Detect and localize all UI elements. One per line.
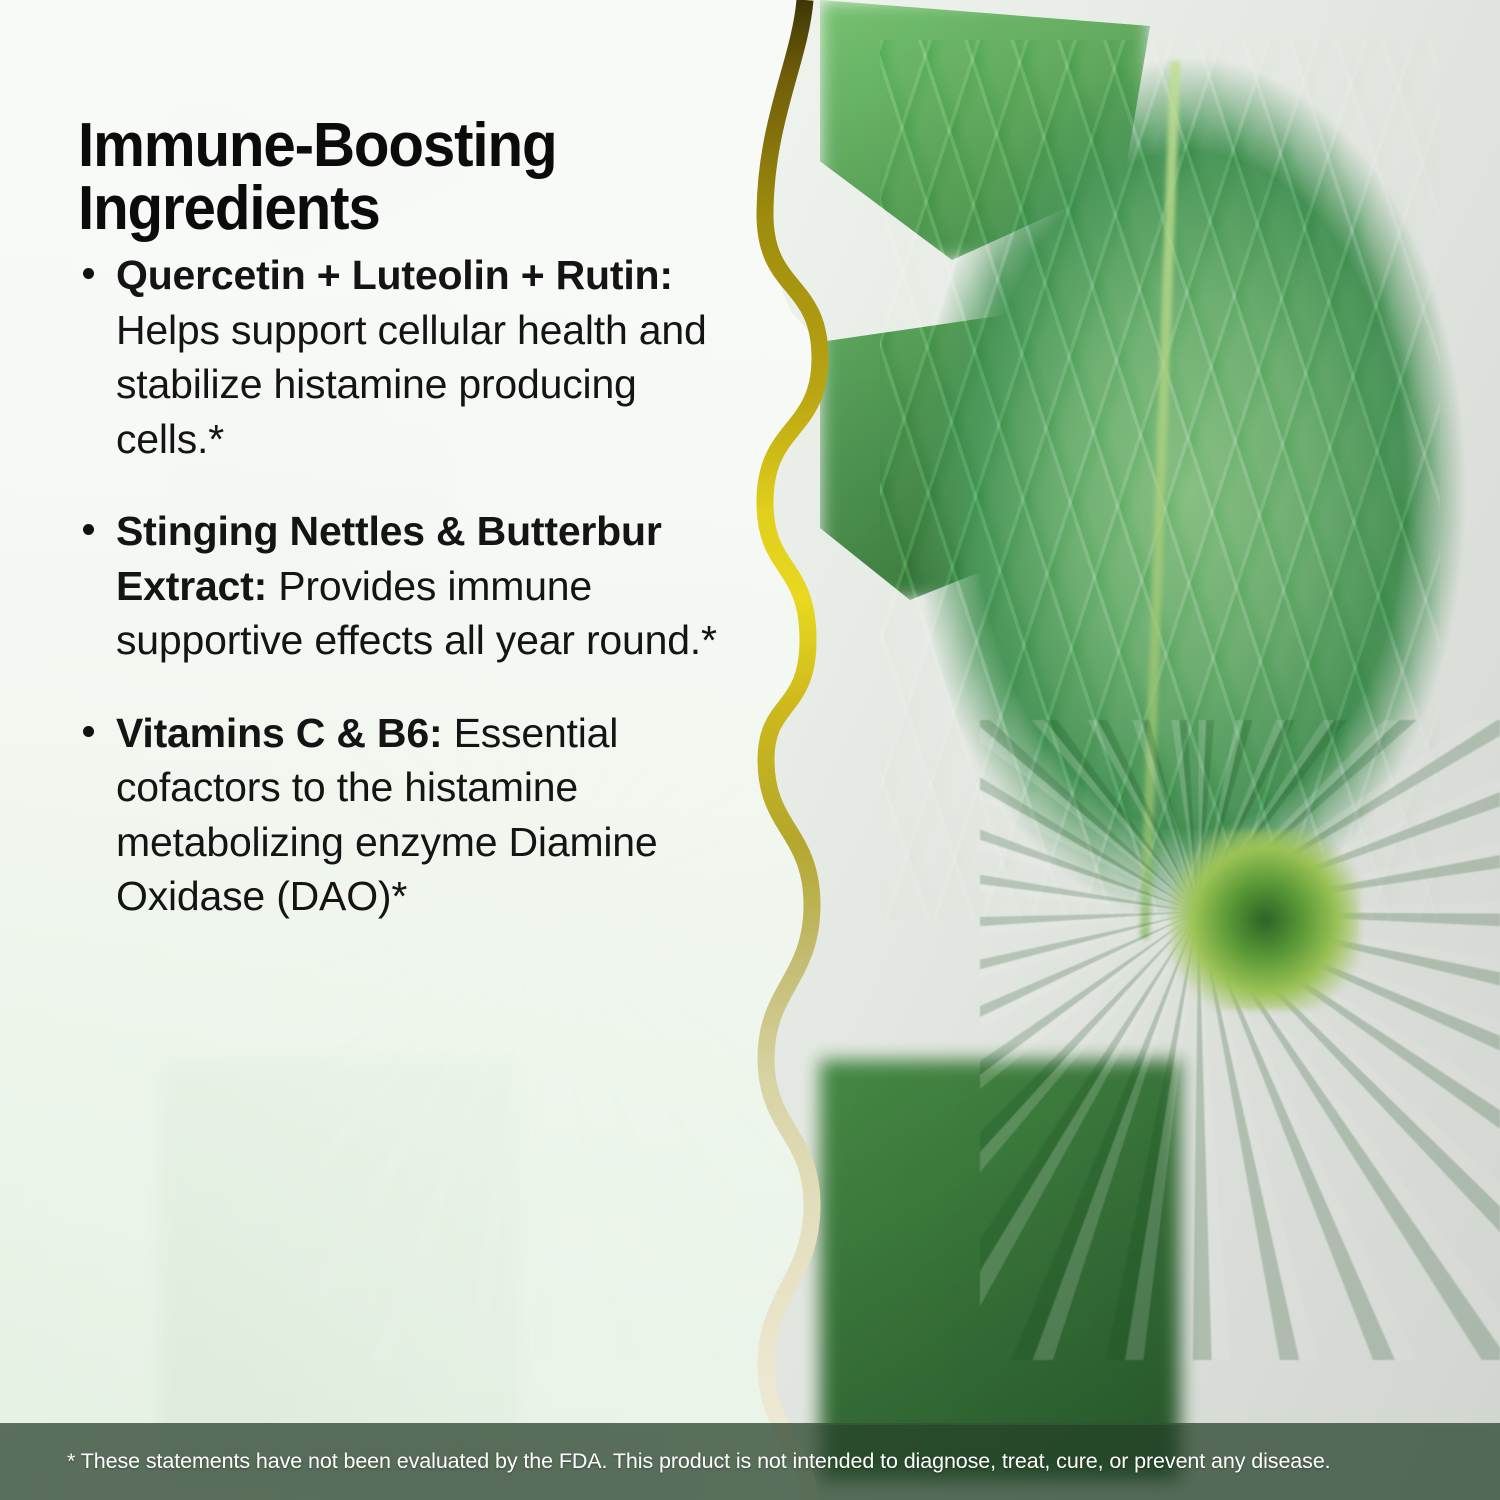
footer-bar: * These statements have not been evaluat… (0, 1423, 1500, 1500)
bullet-dot-icon (83, 524, 94, 535)
ingredient-heading: Vitamins C & B6: (116, 710, 442, 756)
list-item: Quercetin + Luteolin + Rutin: Helps supp… (78, 248, 718, 466)
bullet-dot-icon (83, 268, 94, 279)
list-item: Vitamins C & B6: Essential cofactors to … (78, 706, 718, 924)
fda-disclaimer: * These statements have not been evaluat… (0, 1449, 1331, 1474)
list-item: Stinging Nettles & Butterbur Extract: Pr… (78, 504, 718, 668)
bullet-dot-icon (83, 726, 94, 737)
ingredient-list: Quercetin + Luteolin + Rutin: Helps supp… (78, 248, 718, 924)
ingredient-body: Helps support cellular health and stabil… (116, 307, 707, 462)
ingredient-heading: Quercetin + Luteolin + Rutin: (116, 252, 673, 298)
infographic-panel: Immune-Boosting Ingredients Quercetin + … (0, 0, 1500, 1500)
page-title: Immune-Boosting Ingredients (78, 114, 680, 242)
